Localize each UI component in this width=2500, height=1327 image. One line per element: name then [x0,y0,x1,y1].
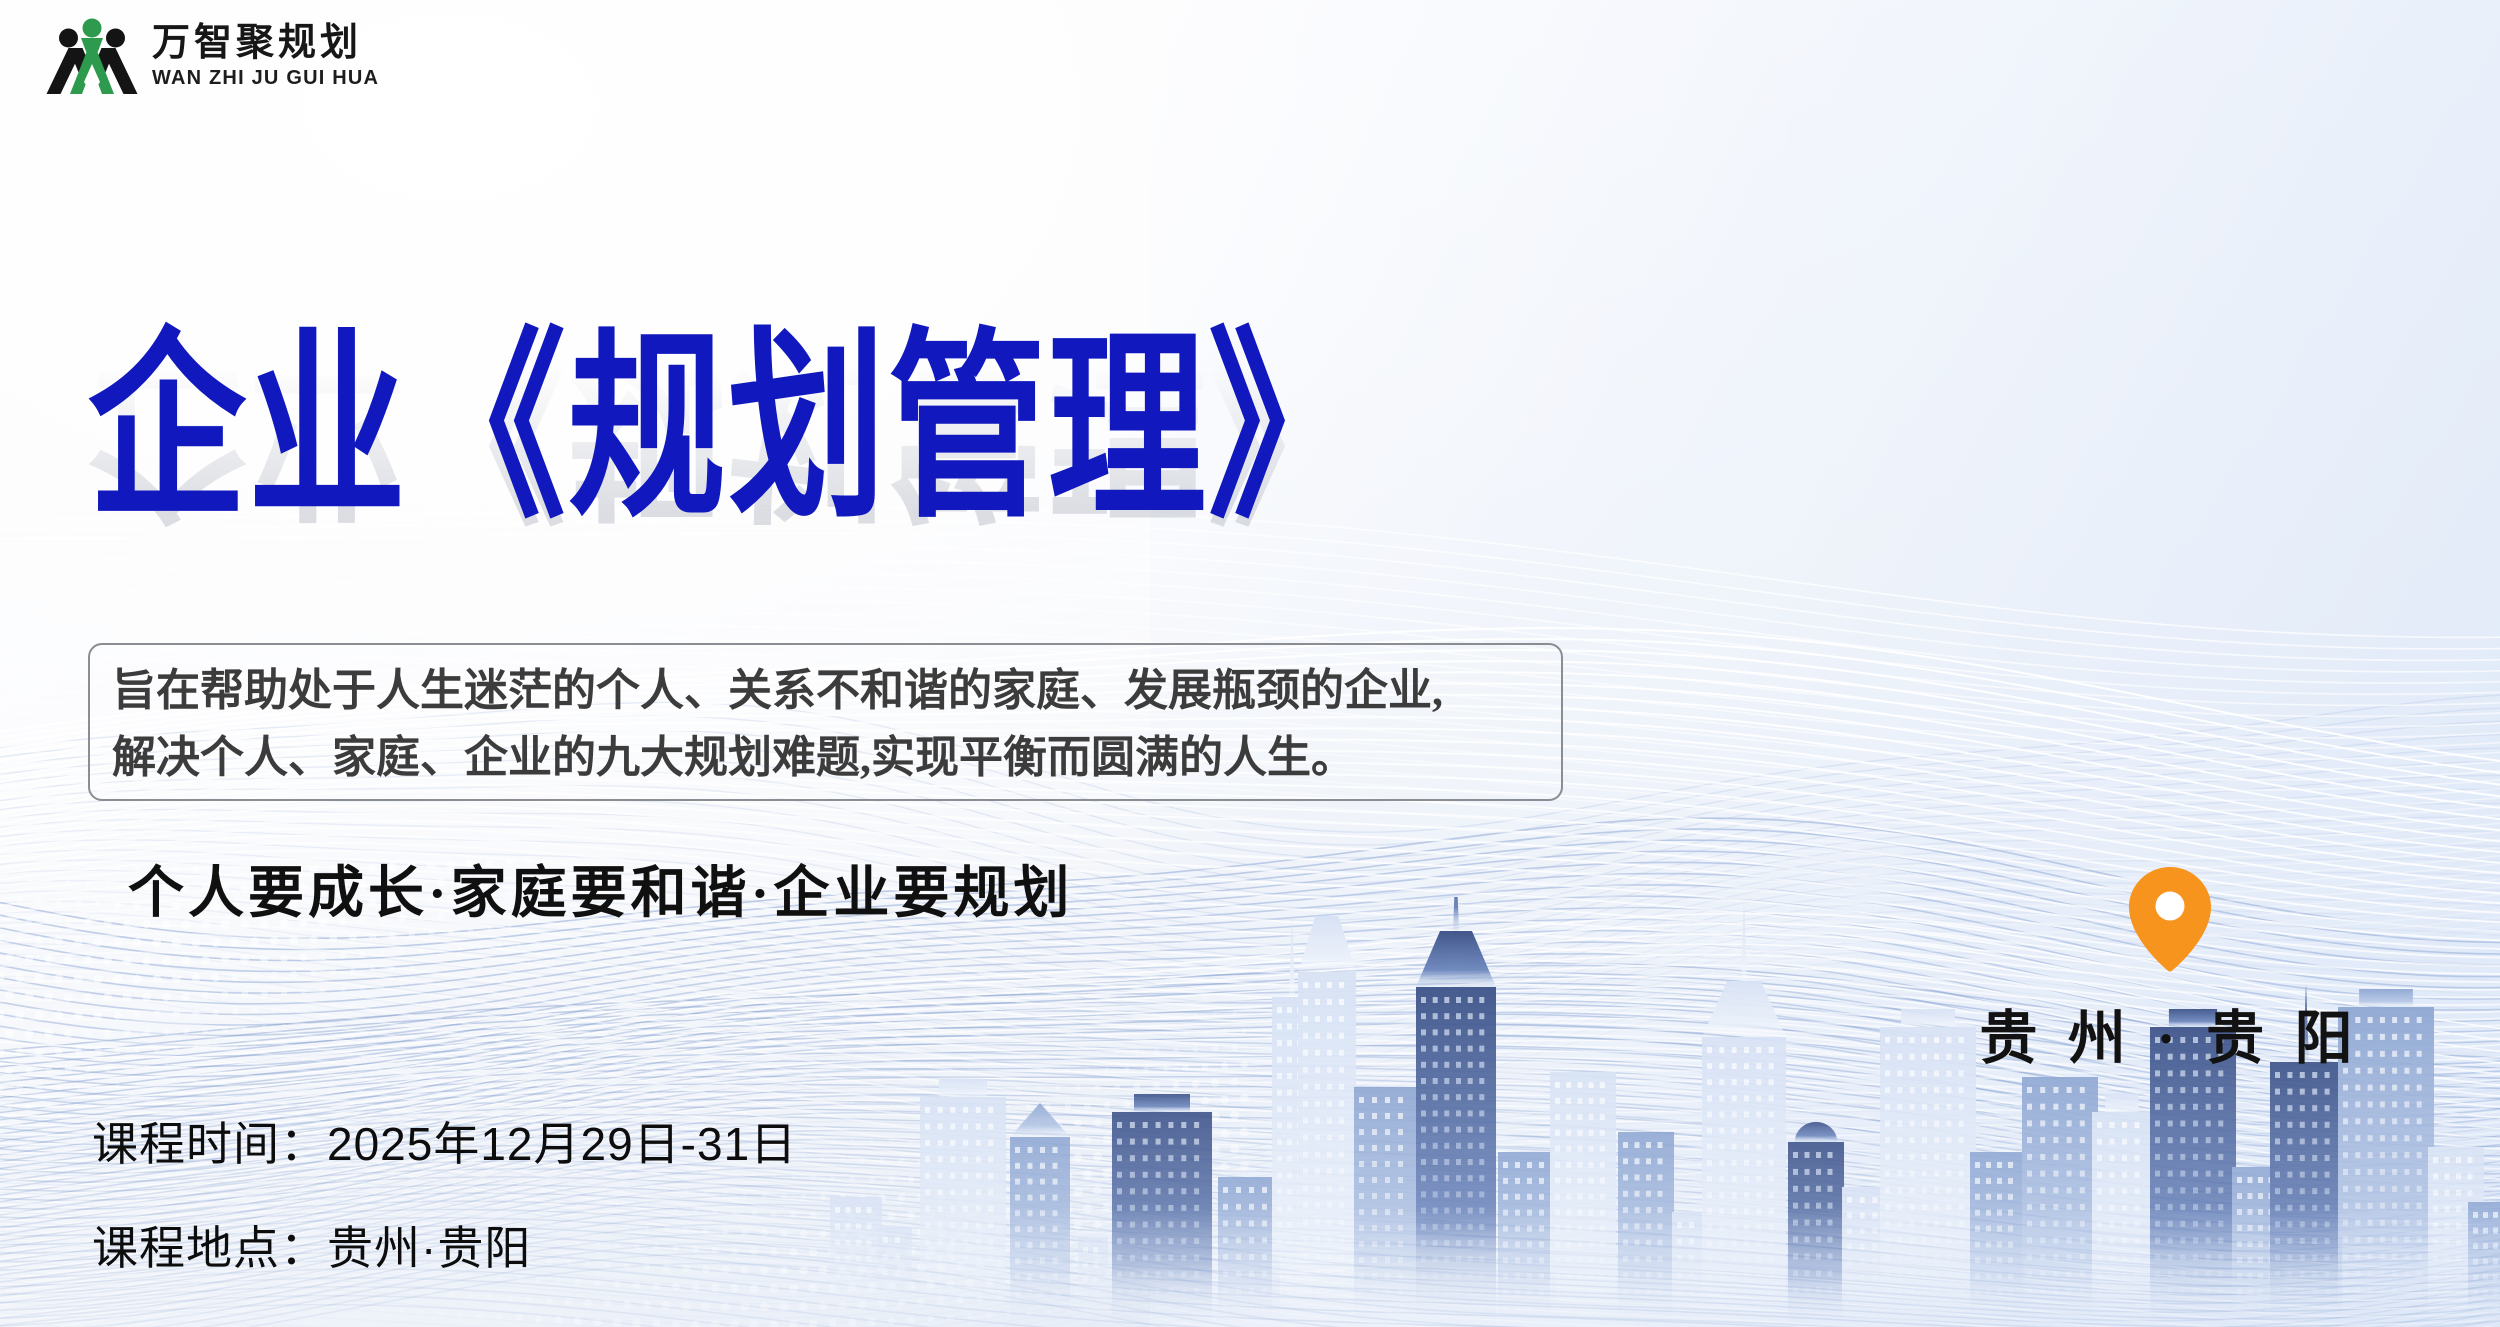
description-line-1: 旨在帮助处于人生迷茫的个人、关系不和谐的家庭、发展瓶颈的企业, [112,658,1539,725]
description-box: 旨在帮助处于人生迷茫的个人、关系不和谐的家庭、发展瓶颈的企业, 解决个人、家庭、… [88,643,1563,801]
brand-name-cn: 万智聚规划 [152,24,379,62]
location-label: 贵 州 · 贵 阳 [1955,991,2385,1075]
location-block: 贵 州 · 贵 阳 [1955,865,2385,1075]
description-line-2: 解决个人、家庭、企业的九大规划难题,实现平衡而圆满的人生。 [112,725,1539,792]
course-info: 课程时间：2025年12月29日-31日 课程地点：贵州·贵阳 [92,1108,797,1278]
page-title-wrap: 企业《规划管理》 [88,322,1688,489]
brand-logo[interactable]: 万智聚规划 WAN ZHI JU GUI HUA [46,14,379,98]
course-place-line: 课程地点：贵州·贵阳 [92,1212,797,1278]
poster-canvas: 万智聚规划 WAN ZHI JU GUI HUA 企业《规划管理》 企业《规划管… [0,0,2500,1327]
brand-wordmark: 万智聚规划 WAN ZHI JU GUI HUA [152,24,379,88]
three-people-m-logo-icon [46,14,138,98]
brand-name-en: WAN ZHI JU GUI HUA [152,68,379,88]
course-time-line: 课程时间：2025年12月29日-31日 [92,1108,797,1174]
slogan-text: 个人要成长·家庭要和谐·企业要规划 [128,848,1073,929]
map-pin-icon [2127,865,2213,973]
page-title: 企业《规划管理》 [88,322,1688,536]
